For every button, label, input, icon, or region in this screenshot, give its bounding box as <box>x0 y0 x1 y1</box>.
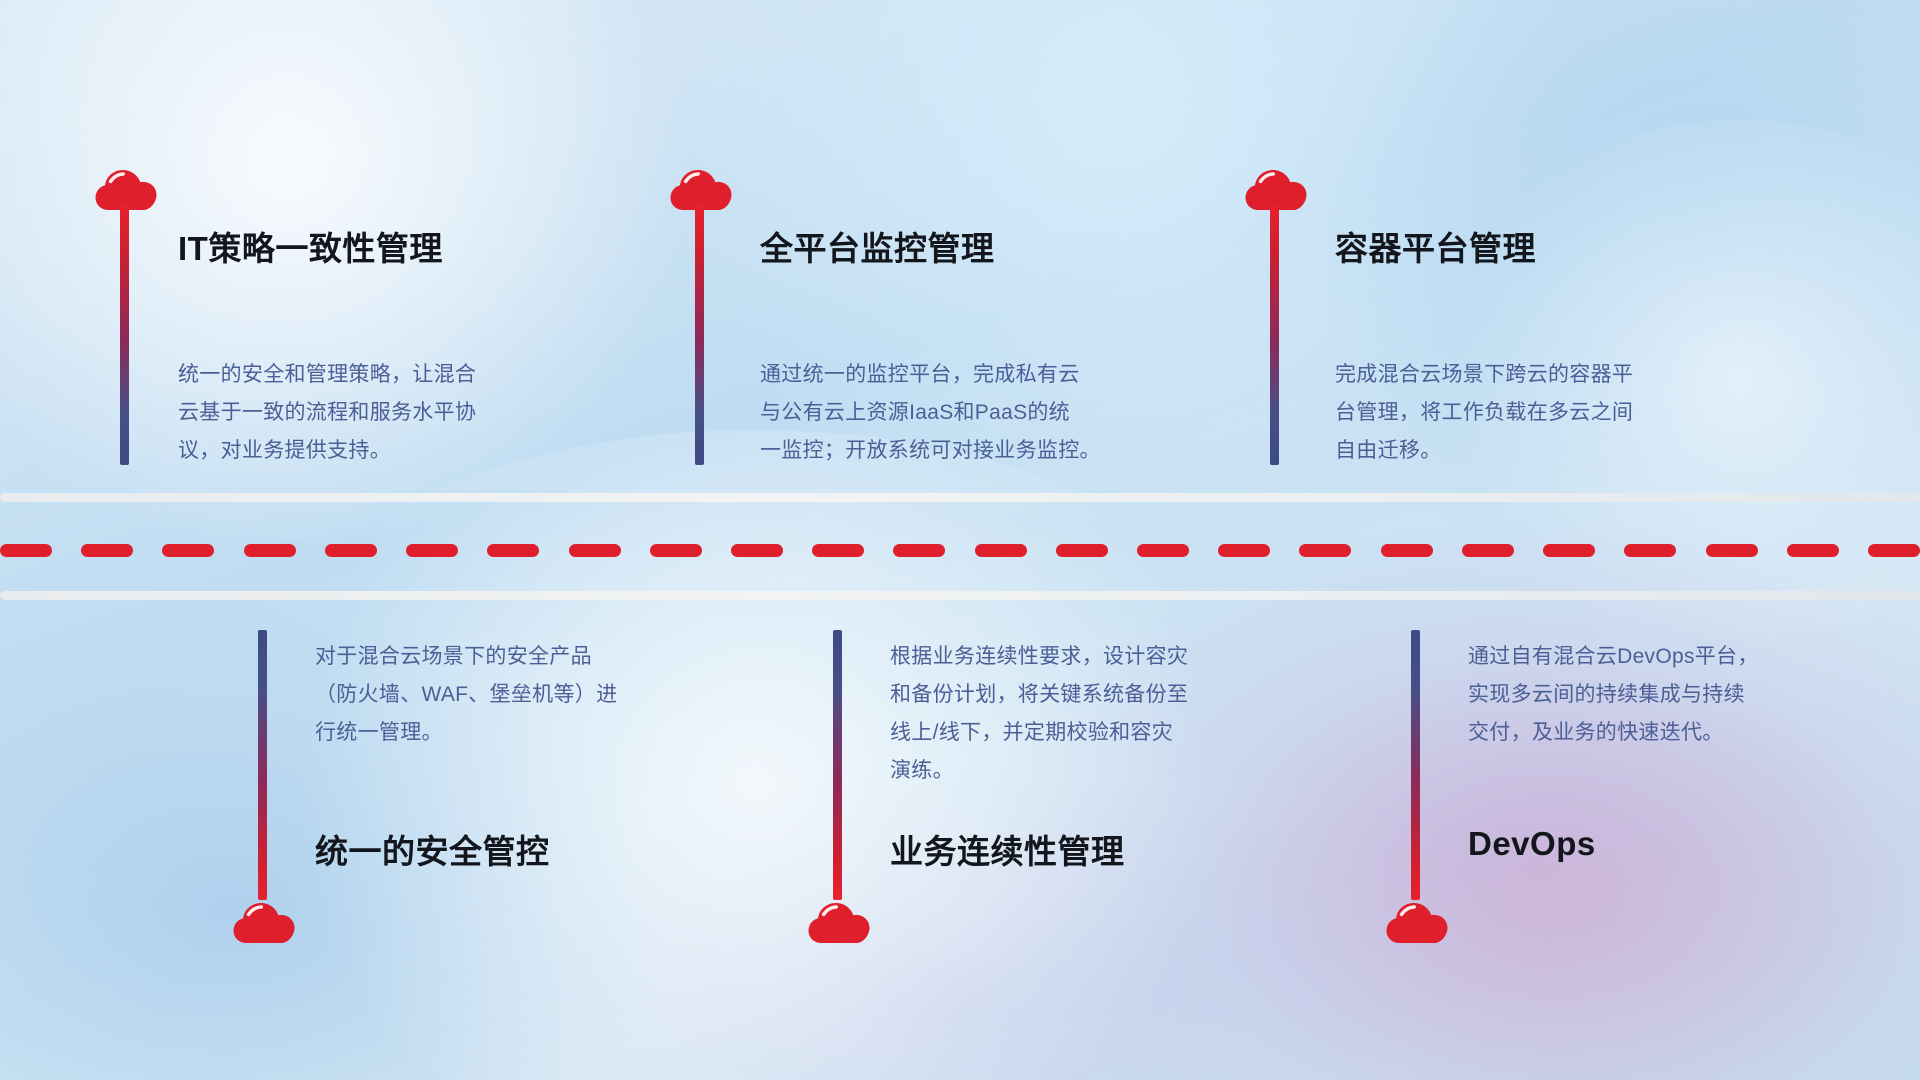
cloud-icon <box>233 898 295 944</box>
divider-dash-segment <box>406 544 458 557</box>
cloud-icon <box>808 898 870 944</box>
divider-dash-segment <box>1706 544 1758 557</box>
divider-dash-segment <box>1543 544 1595 557</box>
divider-dash-segment <box>325 544 377 557</box>
divider-dash-segment <box>244 544 296 557</box>
card-body-line: 与公有云上资源IaaS和PaaS的统 <box>760 394 1220 432</box>
divider-band-top <box>0 493 1920 502</box>
card-body-line: 演练。 <box>890 752 1320 790</box>
divider-dash-segment <box>731 544 783 557</box>
card-body-line: 对于混合云场景下的安全产品 <box>315 638 735 676</box>
connector-stem <box>1411 630 1420 900</box>
card-body-line: 通过自有混合云DevOps平台， <box>1468 638 1888 676</box>
card-body: 完成混合云场景下跨云的容器平 台管理，将工作负载在多云之间 自由迁移。 <box>1335 356 1775 470</box>
divider-dash-segment <box>1299 544 1351 557</box>
divider-dash-segment <box>1056 544 1108 557</box>
cloud-icon <box>1386 898 1448 944</box>
divider-dash-segment <box>81 544 133 557</box>
card-title: 统一的安全管控 <box>315 825 550 873</box>
divider-dash-segment <box>1462 544 1514 557</box>
card-body-line: 实现多云间的持续集成与持续 <box>1468 676 1888 714</box>
divider-dash-segment <box>487 544 539 557</box>
card-body: 通过自有混合云DevOps平台， 实现多云间的持续集成与持续 交付，及业务的快速… <box>1468 638 1888 752</box>
divider-dash-segment <box>569 544 621 557</box>
connector-stem <box>833 630 842 900</box>
card-body-line: （防火墙、WAF、堡垒机等）进 <box>315 676 735 714</box>
card-title: 业务连续性管理 <box>890 825 1125 873</box>
divider-band-bottom <box>0 591 1920 600</box>
divider-dash-segment <box>975 544 1027 557</box>
card-title: 全平台监控管理 <box>760 222 995 270</box>
divider-dash-segment <box>1787 544 1839 557</box>
divider-dash-segment <box>650 544 702 557</box>
card-body-line: 行统一管理。 <box>315 714 735 752</box>
card-body: 统一的安全和管理策略，让混合 云基于一致的流程和服务水平协 议，对业务提供支持。 <box>178 356 618 470</box>
card-body-line: 根据业务连续性要求，设计容灾 <box>890 638 1320 676</box>
card-body-line: 一监控；开放系统可对接业务监控。 <box>760 432 1220 470</box>
card-title: 容器平台管理 <box>1335 222 1536 270</box>
card-body-line: 台管理，将工作负载在多云之间 <box>1335 394 1775 432</box>
card-body-line: 和备份计划，将关键系统备份至 <box>890 676 1320 714</box>
card-body-line: 自由迁移。 <box>1335 432 1775 470</box>
card-body-line: 云基于一致的流程和服务水平协 <box>178 394 618 432</box>
divider-dash-segment <box>1868 544 1920 557</box>
card-body: 通过统一的监控平台，完成私有云 与公有云上资源IaaS和PaaS的统 一监控；开… <box>760 356 1220 470</box>
divider-dashed-line <box>0 544 1920 557</box>
card-body-line: 议，对业务提供支持。 <box>178 432 618 470</box>
connector-stem <box>120 205 129 465</box>
divider-dash-segment <box>812 544 864 557</box>
connector-stem <box>1270 205 1279 465</box>
card-body-line: 线上/线下，并定期校验和容灾 <box>890 714 1320 752</box>
divider-dash-segment <box>162 544 214 557</box>
divider-dash-segment <box>1218 544 1270 557</box>
divider-dash-segment <box>1137 544 1189 557</box>
divider-dash-segment <box>0 544 52 557</box>
divider-dash-segment <box>1624 544 1676 557</box>
card-body-line: 交付，及业务的快速迭代。 <box>1468 714 1888 752</box>
divider-dash-segment <box>1381 544 1433 557</box>
connector-stem <box>695 205 704 465</box>
card-body-line: 通过统一的监控平台，完成私有云 <box>760 356 1220 394</box>
card-body: 对于混合云场景下的安全产品 （防火墙、WAF、堡垒机等）进 行统一管理。 <box>315 638 735 752</box>
infographic-canvas: IT策略一致性管理 统一的安全和管理策略，让混合 云基于一致的流程和服务水平协 … <box>0 0 1920 1080</box>
card-body-line: 统一的安全和管理策略，让混合 <box>178 356 618 394</box>
card-body-line: 完成混合云场景下跨云的容器平 <box>1335 356 1775 394</box>
card-title: IT策略一致性管理 <box>178 222 443 270</box>
connector-stem <box>258 630 267 900</box>
card-title: DevOps <box>1468 825 1596 863</box>
divider-dash-segment <box>893 544 945 557</box>
card-body: 根据业务连续性要求，设计容灾 和备份计划，将关键系统备份至 线上/线下，并定期校… <box>890 638 1320 790</box>
